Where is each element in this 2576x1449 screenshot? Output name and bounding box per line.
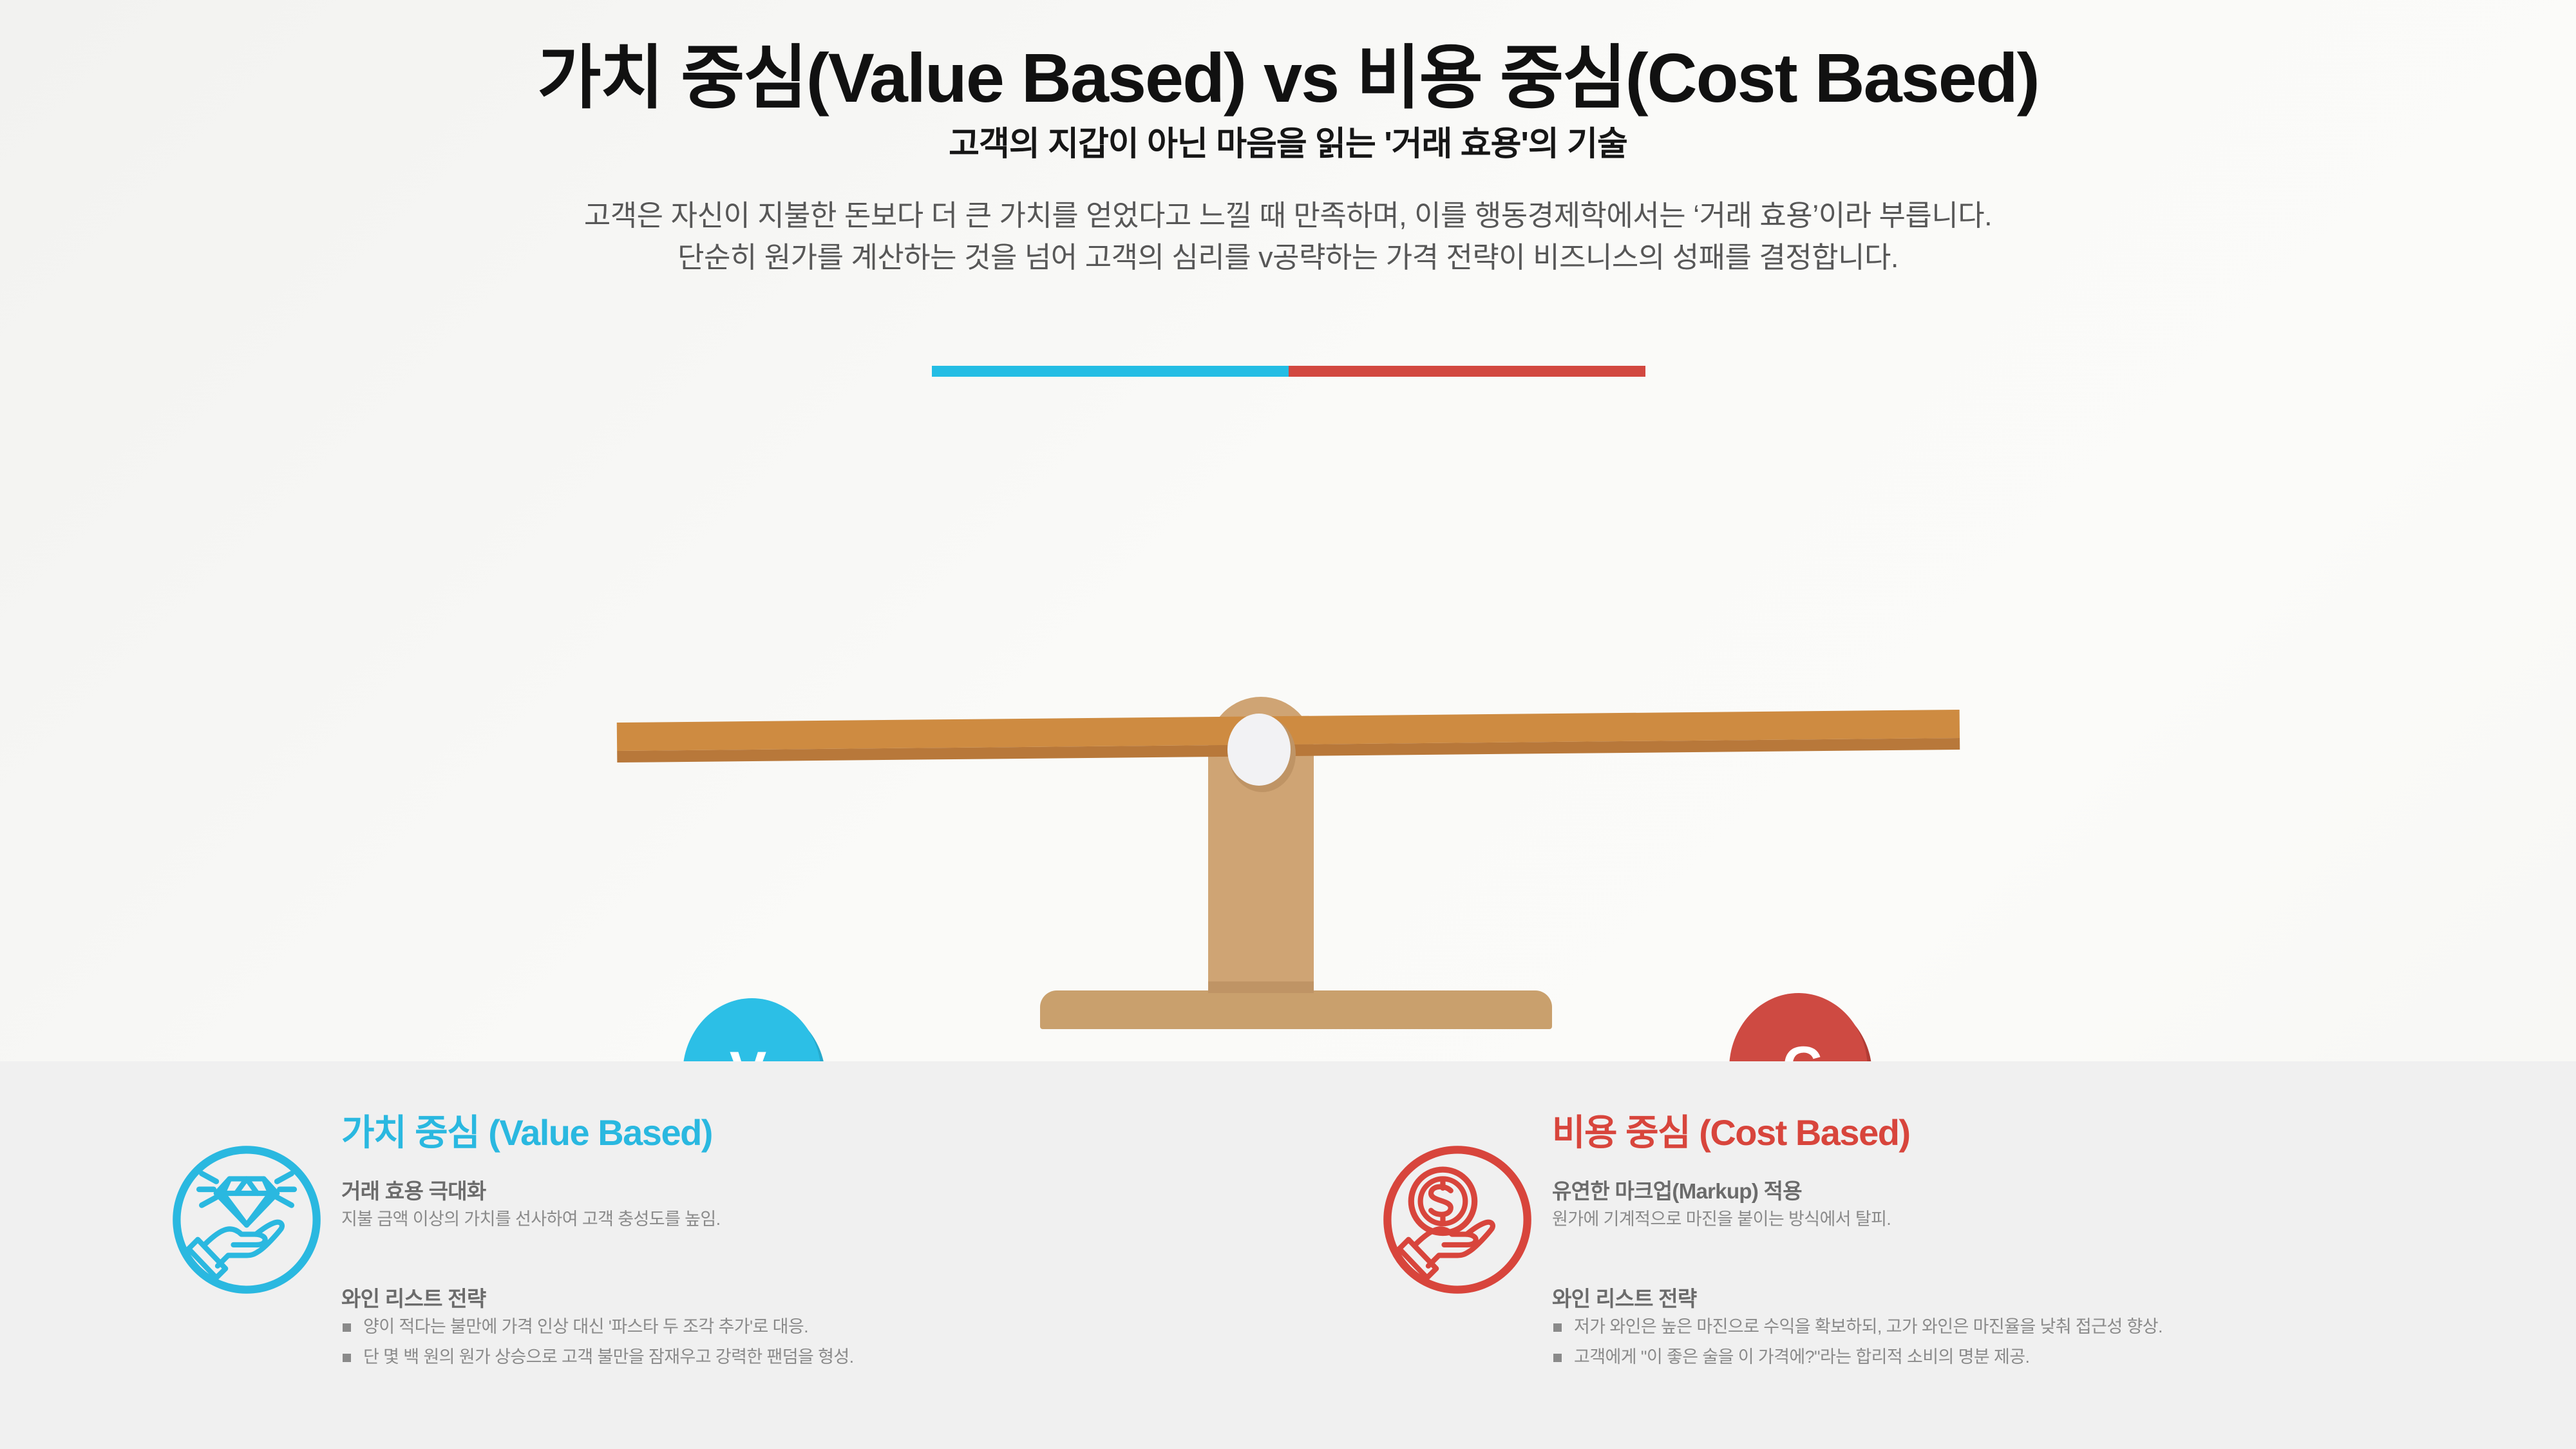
divider-segment-cost bbox=[1289, 366, 1645, 377]
section-title: 유연한 마크업(Markup) 적용 bbox=[1552, 1179, 2473, 1204]
two-tone-divider bbox=[932, 366, 1645, 377]
list-item-text: 고객에게 "이 좋은 술을 이 가격에?"라는 합리적 소비의 명분 제공. bbox=[1574, 1347, 2029, 1367]
lead-line-1: 고객은 자신이 지불한 돈보다 더 큰 가치를 얻었다고 느낄 때 만족하며, … bbox=[0, 194, 2576, 237]
header: 가치 중심(Value Based) vs 비용 중심(Cost Based) … bbox=[0, 0, 2576, 279]
coin-in-hand-icon bbox=[1378, 1141, 1537, 1299]
divider-segment-value bbox=[932, 366, 1289, 377]
column-cost-heading: 비용 중심 (Cost Based) bbox=[1552, 1113, 2473, 1153]
square-bullet-icon bbox=[343, 1323, 351, 1332]
list-item: 단 몇 백 원의 원가 상승으로 고객 불만을 잠재우고 강력한 팬덤을 형성. bbox=[341, 1346, 1211, 1368]
square-bullet-icon bbox=[1553, 1354, 1562, 1362]
column-cost-based: 비용 중심 (Cost Based) 유연한 마크업(Markup) 적용 원가… bbox=[1378, 1061, 2473, 1376]
section-desc: 지불 금액 이상의 가치를 선사하여 고객 충성도를 높임. bbox=[341, 1208, 1211, 1231]
section-desc: 원가에 기계적으로 마진을 붙이는 방식에서 탈피. bbox=[1552, 1208, 2473, 1231]
column-cost-body: 비용 중심 (Cost Based) 유연한 마크업(Markup) 적용 원가… bbox=[1552, 1061, 2473, 1376]
list-item: 저가 와인은 높은 마진으로 수익을 확보하되, 고가 와인은 마진율을 낮춰 … bbox=[1552, 1316, 2473, 1338]
list-item-text: 양이 적다는 불만에 가격 인상 대신 '파스타 두 조각 추가'로 대응. bbox=[363, 1317, 808, 1336]
square-bullet-icon bbox=[1553, 1323, 1562, 1332]
lead-paragraph: 고객은 자신이 지불한 돈보다 더 큰 가치를 얻었다고 느낄 때 만족하며, … bbox=[0, 165, 2576, 279]
scale-post-foot bbox=[1208, 981, 1314, 993]
column-cost-section-1: 유연한 마크업(Markup) 적용 원가에 기계적으로 마진을 붙이는 방식에… bbox=[1552, 1179, 2473, 1231]
section-title: 거래 효용 극대화 bbox=[341, 1179, 1211, 1204]
column-value-heading: 가치 중심 (Value Based) bbox=[341, 1113, 1211, 1153]
column-value-bullets: 양이 적다는 불만에 가격 인상 대신 '파스타 두 조각 추가'로 대응. 단… bbox=[341, 1316, 1211, 1368]
infographic-canvas: 가치 중심(Value Based) vs 비용 중심(Cost Based) … bbox=[0, 0, 2576, 1449]
lead-line-2: 단순히 원가를 계산하는 것을 넘어 고객의 심리를 v공략하는 가격 전략이 … bbox=[0, 236, 2576, 279]
page-title: 가치 중심(Value Based) vs 비용 중심(Cost Based) bbox=[0, 0, 2576, 118]
section-spacer bbox=[341, 1247, 1211, 1286]
section-spacer bbox=[1552, 1247, 2473, 1286]
column-cost-bullets: 저가 와인은 높은 마진으로 수익을 확보하되, 고가 와인은 마진율을 낮춰 … bbox=[1552, 1316, 2473, 1368]
column-value-body: 가치 중심 (Value Based) 거래 효용 극대화 지불 금액 이상의 … bbox=[341, 1061, 1211, 1376]
scale-pivot bbox=[1227, 714, 1291, 786]
list-item: 고객에게 "이 좋은 술을 이 가격에?"라는 합리적 소비의 명분 제공. bbox=[1552, 1346, 2473, 1368]
column-value-based: 가치 중심 (Value Based) 거래 효용 극대화 지불 금액 이상의 … bbox=[167, 1061, 1211, 1376]
scale-base bbox=[1040, 990, 1552, 1029]
comparison-panel: 가치 중심 (Value Based) 거래 효용 극대화 지불 금액 이상의 … bbox=[0, 1061, 2576, 1449]
list-item: 양이 적다는 불만에 가격 인상 대신 '파스타 두 조각 추가'로 대응. bbox=[341, 1316, 1211, 1338]
column-value-section-1: 거래 효용 극대화 지불 금액 이상의 가치를 선사하여 고객 충성도를 높임. bbox=[341, 1179, 1211, 1231]
list-item-text: 저가 와인은 높은 마진으로 수익을 확보하되, 고가 와인은 마진율을 낮춰 … bbox=[1574, 1317, 2163, 1336]
column-cost-strategy-title: 와인 리스트 전략 bbox=[1552, 1286, 2473, 1312]
diamond-in-hand-icon bbox=[167, 1141, 326, 1299]
page-subtitle: 고객의 지갑이 아닌 마음을 읽는 '거래 효용'의 기술 bbox=[0, 118, 2576, 164]
list-item-text: 단 몇 백 원의 원가 상승으로 고객 불만을 잠재우고 강력한 팬덤을 형성. bbox=[363, 1347, 854, 1367]
balance-scale-illustration: V C bbox=[0, 489, 2576, 1037]
column-value-strategy-title: 와인 리스트 전략 bbox=[341, 1286, 1211, 1312]
square-bullet-icon bbox=[343, 1354, 351, 1362]
